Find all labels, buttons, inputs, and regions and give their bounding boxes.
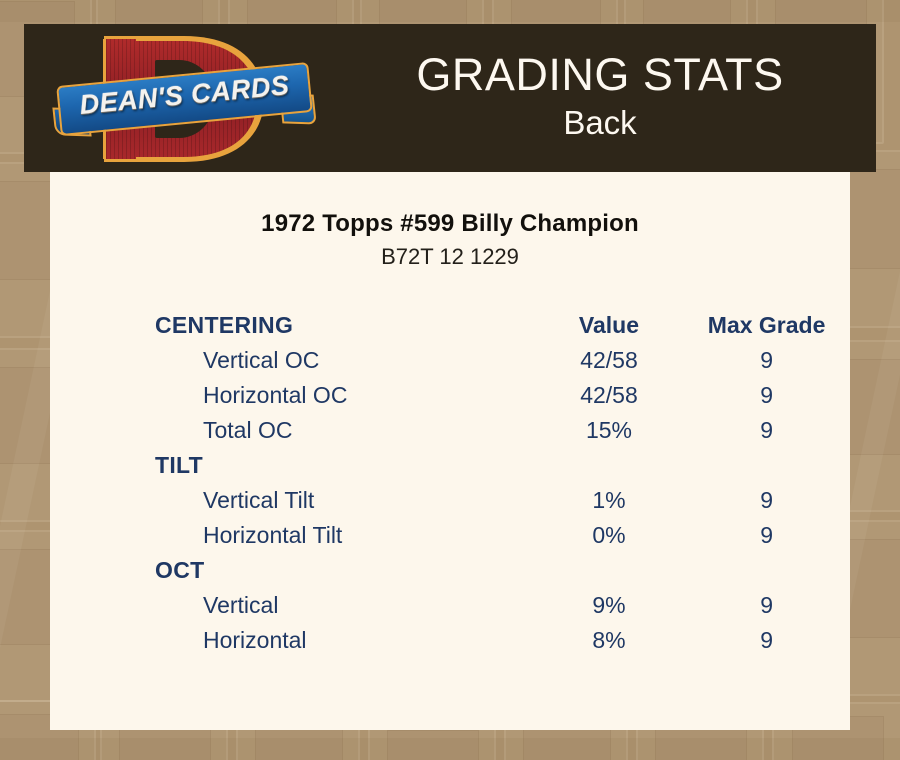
stat-max-grade: 9 [683,623,850,658]
section-header-label: OCT [50,553,535,588]
header-title-group: GRADING STATS Back [324,24,876,172]
header-bar: DEAN'S CARDS GRADING STATS Back [24,24,876,172]
stat-value: 1% [535,483,683,518]
table-row: Vertical9%9 [50,588,850,623]
section-grade-spacer [683,553,850,588]
card-serial-number: B72T 12 1229 [50,244,850,270]
content-panel: 1972 Topps #599 Billy Champion B72T 12 1… [50,172,850,730]
stat-max-grade: 9 [683,378,850,413]
table-row: Total OC15%9 [50,413,850,448]
table-row: Horizontal8%9 [50,623,850,658]
table-row: Horizontal OC42/589 [50,378,850,413]
table-section-row: CENTERINGValueMax Grade [50,308,850,343]
column-header-value: Value [535,308,683,343]
column-header-max-grade: Max Grade [683,308,850,343]
table-section-row: TILT [50,448,850,483]
section-header-label: CENTERING [50,308,535,343]
stat-value: 42/58 [535,378,683,413]
table-row: Vertical Tilt1%9 [50,483,850,518]
deans-cards-logo[interactable]: DEAN'S CARDS [52,30,317,166]
page-title: GRADING STATS [416,51,783,98]
stat-label: Vertical [50,588,535,623]
table-section-row: OCT [50,553,850,588]
stat-max-grade: 9 [683,413,850,448]
page-subtitle: Back [563,102,636,145]
stat-max-grade: 9 [683,483,850,518]
stat-value: 15% [535,413,683,448]
table-row: Vertical OC42/589 [50,343,850,378]
stat-value: 0% [535,518,683,553]
grading-stats-table: CENTERINGValueMax GradeVertical OC42/589… [50,308,850,658]
stat-max-grade: 9 [683,343,850,378]
stat-label: Vertical Tilt [50,483,535,518]
stat-label: Horizontal [50,623,535,658]
section-header-label: TILT [50,448,535,483]
stat-max-grade: 9 [683,518,850,553]
stat-value: 9% [535,588,683,623]
table-row: Horizontal Tilt0%9 [50,518,850,553]
logo-ribbon-icon: DEAN'S CARDS [52,68,317,138]
stat-label: Total OC [50,413,535,448]
stat-max-grade: 9 [683,588,850,623]
stat-label: Horizontal OC [50,378,535,413]
section-grade-spacer [683,448,850,483]
stat-value: 8% [535,623,683,658]
stat-label: Horizontal Tilt [50,518,535,553]
section-value-spacer [535,553,683,588]
stat-label: Vertical OC [50,343,535,378]
stat-value: 42/58 [535,343,683,378]
card-title: 1972 Topps #599 Billy Champion [50,210,850,238]
section-value-spacer [535,448,683,483]
